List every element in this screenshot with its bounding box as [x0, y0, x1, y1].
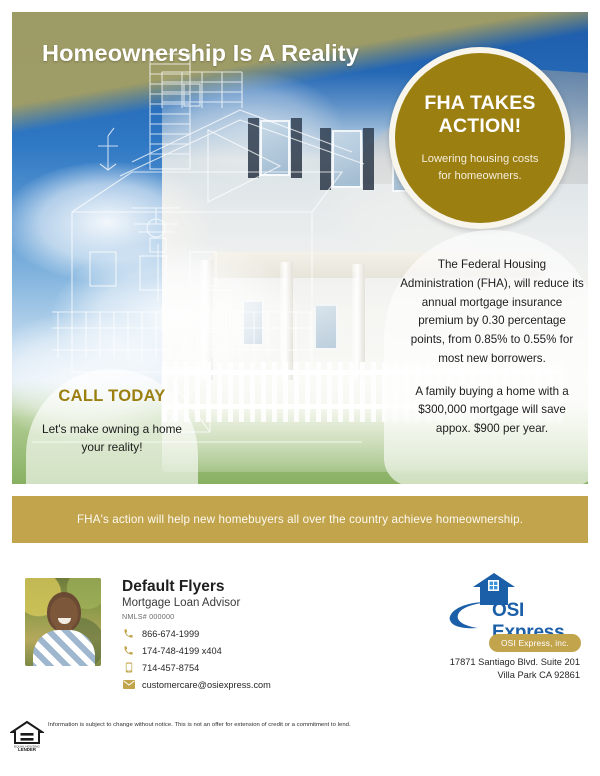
mobile-icon	[122, 662, 135, 673]
contact-value: customercare@osiexpress.com	[142, 680, 271, 690]
company-address-line2: Villa Park CA 92861	[450, 669, 580, 682]
fha-badge: FHA TAKES ACTION! Lowering housing costs…	[389, 47, 571, 229]
contact-row-phone-primary[interactable]: 866-674-1999	[122, 626, 271, 641]
call-today-body: Let's make owning a home your reality!	[38, 420, 186, 457]
callout-banner: FHA's action will help new homebuyers al…	[12, 496, 588, 543]
agent-nmls: NMLS# 000000	[122, 612, 174, 621]
fha-details-paragraph-2: A family buying a home with a $300,000 m…	[400, 383, 584, 439]
equal-housing-lender-icon: EQUAL HOUSING LENDER	[10, 718, 44, 752]
badge-subtitle-line1: Lowering housing costs	[422, 151, 539, 167]
contact-row-email[interactable]: customercare@osiexpress.com	[122, 677, 271, 692]
contact-row-phone-secondary[interactable]: 174-748-4199 x404	[122, 643, 271, 658]
badge-title-line1: FHA TAKES	[424, 92, 535, 115]
badge-title: FHA TAKES ACTION!	[424, 92, 535, 137]
disclaimer-text: Information is subject to change without…	[48, 722, 351, 728]
company-address: 17871 Santiago Blvd. Suite 201 Villa Par…	[450, 656, 580, 683]
contact-row-mobile[interactable]: 714-457-8754	[122, 660, 271, 675]
envelope-icon	[122, 679, 135, 690]
avatar-face	[50, 597, 78, 630]
hero-section: Homeownership Is A Reality FHA TAKES ACT…	[12, 12, 588, 484]
call-today-heading: CALL TODAY	[38, 387, 186, 406]
fha-details-paragraph-1: The Federal Housing Administration (FHA)…	[400, 256, 584, 369]
avatar-shirt	[33, 630, 95, 666]
page-title: Homeownership Is A Reality	[42, 40, 359, 67]
contact-value: 174-748-4199 x404	[142, 646, 222, 656]
company-pill-label: OSI Express, inc.	[501, 638, 569, 648]
phone-icon	[122, 645, 135, 656]
agent-name: Default Flyers	[122, 578, 225, 596]
callout-banner-text: FHA's action will help new homebuyers al…	[77, 513, 523, 526]
company-pill-badge: OSI Express, inc.	[489, 634, 581, 652]
ehl-line2: LENDER	[18, 747, 37, 752]
company-logo: OSI Express	[448, 572, 578, 630]
contact-list: 866-674-1999 174-748-4199 x404 714-457-8…	[122, 626, 271, 694]
badge-title-line2: ACTION!	[424, 115, 535, 138]
fha-details-panel: The Federal Housing Administration (FHA)…	[384, 230, 588, 484]
contact-value: 714-457-8754	[142, 663, 199, 673]
flyer-page: Homeownership Is A Reality FHA TAKES ACT…	[0, 0, 600, 776]
phone-icon	[122, 628, 135, 639]
footer-section: Default Flyers Mortgage Loan Advisor NML…	[0, 560, 600, 700]
avatar	[25, 578, 101, 666]
badge-subtitle: Lowering housing costs for homeowners.	[422, 151, 539, 183]
call-today-panel: CALL TODAY Let's make owning a home your…	[26, 369, 198, 484]
contact-value: 866-674-1999	[142, 629, 199, 639]
agent-title: Mortgage Loan Advisor	[122, 597, 240, 609]
badge-subtitle-line2: for homeowners.	[422, 168, 539, 184]
company-address-line1: 17871 Santiago Blvd. Suite 201	[450, 656, 580, 669]
